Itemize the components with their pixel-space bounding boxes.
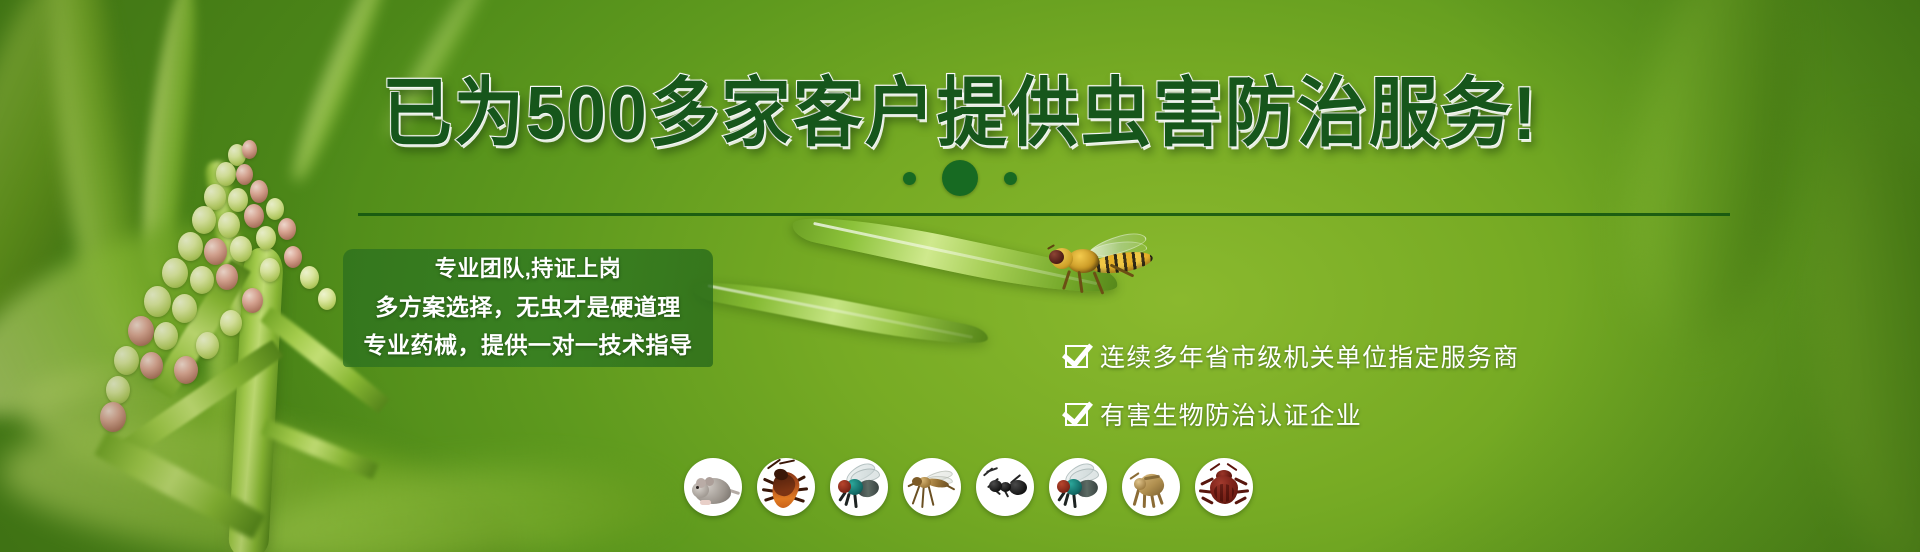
flower-bud [162,258,188,288]
flower-bud [192,206,216,234]
flower-bud [144,286,171,317]
claims-panel-line-3: 专业药械，提供一对一技术指导 [343,326,713,364]
mouse-foot [700,500,711,505]
ant-antenna [986,467,998,473]
grass-blade-photo [690,272,989,355]
flower-bud [266,198,284,220]
flower-bud [220,310,242,336]
checklist-item-label: 连续多年省市级机关单位指定服务商 [1100,338,1519,374]
mosquito-leg [927,485,934,506]
fly-leg [853,494,857,508]
flower-bud [106,376,130,404]
flower-bud [218,212,240,238]
fly-head [838,480,851,493]
dot-small-right [1004,172,1017,185]
flower-bud [100,402,126,432]
mouse-eye [696,486,699,489]
flower-bud [172,294,197,323]
flower-bud [244,204,264,228]
bottlefly-icon[interactable] [1049,458,1107,516]
flower-bud [278,218,296,240]
checklist-item-label: 有害生物防治认证企业 [1100,396,1362,432]
housefly-icon[interactable] [830,458,888,516]
flower-bud [154,322,178,350]
flower-bud [204,238,227,265]
bedbug-icon[interactable] [1195,458,1253,516]
pest-icon-row [684,458,1253,516]
flower-bud [114,346,139,375]
claims-panel-line-2: 多方案选择，无虫才是硬道理 [343,288,713,326]
flower-bud [256,226,276,250]
fly-leg [1093,271,1105,294]
fly-head [1057,480,1070,493]
horizontal-divider-rule [358,213,1730,216]
checkbox-checked-icon [1065,345,1088,368]
fly-leg [1077,271,1083,293]
flower-bud [216,264,238,290]
flower-bud [174,356,198,384]
fly-eye [1049,250,1064,264]
flower-bud [260,258,280,282]
flower-bud [284,246,302,268]
checkbox-checked-icon [1065,403,1088,426]
fly-leg [1062,270,1071,290]
mosquito-leg [921,486,925,508]
flea-icon[interactable] [1122,458,1180,516]
flower-bud [140,352,163,379]
dot-small-left [903,172,916,185]
checklist-item: 有害生物防治认证企业 [1065,396,1519,432]
flower-bud [242,140,257,159]
flower-bud [230,236,252,262]
fly-antenna [1047,244,1055,250]
hover-fly-photo [1045,243,1160,295]
flower-bud [242,288,263,313]
plant-leaf [261,418,379,480]
bedbug-leg [1234,496,1247,504]
mouse-icon[interactable] [684,458,742,516]
ant-icon[interactable] [976,458,1034,516]
ant-abdomen [1009,480,1027,495]
flower-bud [178,232,203,261]
flower-bud [300,266,319,289]
credentials-checklist: 连续多年省市级机关单位指定服务商 有害生物防治认证企业 [1065,338,1519,432]
cockroach-antenna [779,459,795,464]
pest-control-hero-banner: 已为500多家客户提供虫害防治服务! 专业团队,持证上岗 多方案选择，无虫才是硬… [0,0,1920,552]
flower-bud [318,288,336,310]
dot-large-center [942,160,978,196]
flea-head [1134,478,1146,490]
ant-head [989,480,1002,492]
headline-dot-divider [0,160,1920,196]
mosquito-head [912,477,922,486]
flower-bud [128,316,154,346]
fly-leg [1072,494,1076,508]
grass-blade-decor [381,0,498,142]
claims-panel: 专业团队,持证上岗 多方案选择，无虫才是硬道理 专业药械，提供一对一技术指导 [343,249,713,367]
mosquito-icon[interactable] [903,458,961,516]
checklist-item: 连续多年省市级机关单位指定服务商 [1065,338,1519,374]
cockroach-icon[interactable] [757,458,815,516]
flower-bud [196,332,219,359]
mosquito-leg [912,485,921,504]
claims-panel-line-1: 专业团队,持证上岗 [343,250,713,288]
flower-bud [190,266,214,294]
